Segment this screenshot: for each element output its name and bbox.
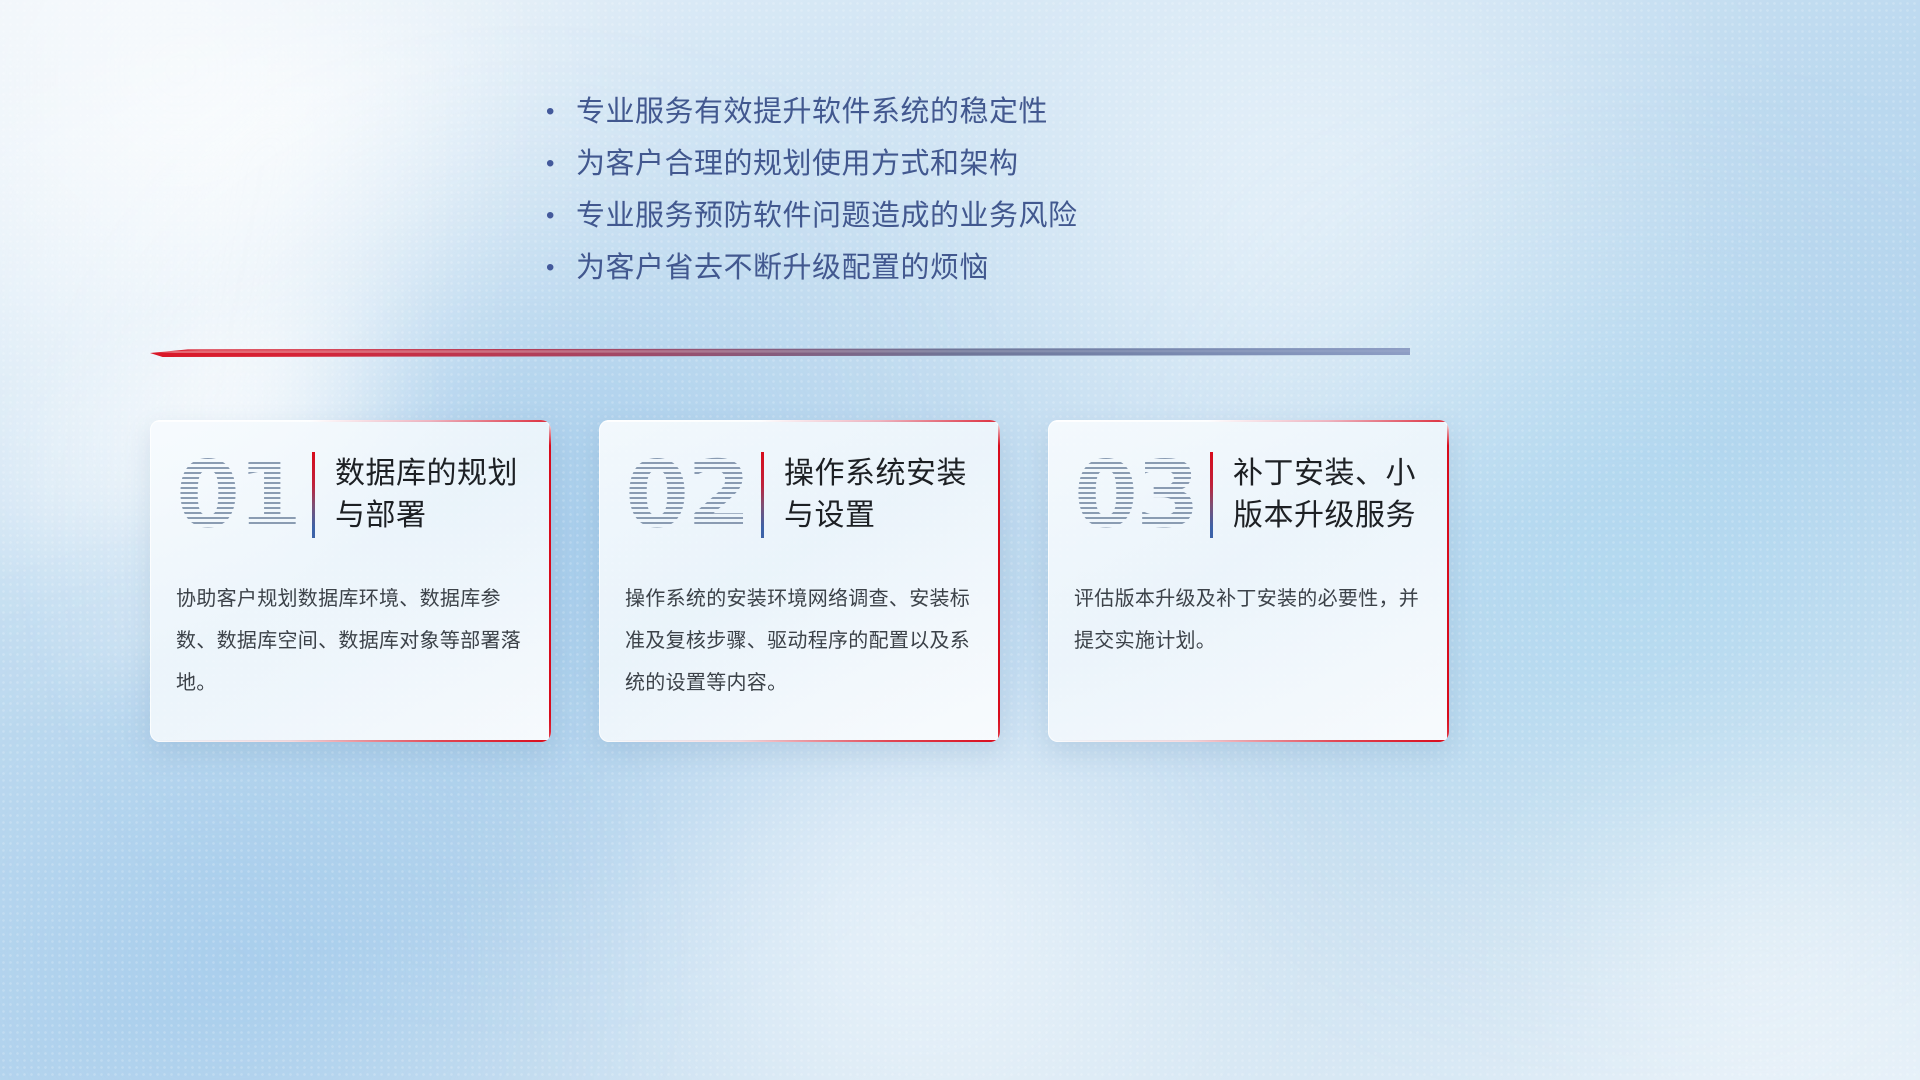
card-number: 01 xyxy=(176,447,308,543)
card-title: 数据库的规划与部署 xyxy=(335,453,529,537)
bullet-marker-icon: • xyxy=(540,92,576,132)
list-item: • 专业服务有效提升软件系统的稳定性 xyxy=(540,92,1260,144)
card-header: 01 数据库的规划与部署 xyxy=(150,420,551,570)
card-bottom-accent xyxy=(150,740,551,742)
card-bottom-accent xyxy=(1048,740,1449,742)
card-header: 03 补丁安装、小版本升级服务 xyxy=(1048,420,1449,570)
service-card[interactable]: 02 操作系统安装与设置 操作系统的安装环境网络调查、安装标准及复核步骤、驱动程… xyxy=(599,420,1000,742)
card-divider-bar xyxy=(761,452,764,538)
bullet-marker-icon: • xyxy=(540,248,576,288)
list-item: • 为客户省去不断升级配置的烦恼 xyxy=(540,248,1260,300)
card-description: 操作系统的安装环境网络调查、安装标准及复核步骤、驱动程序的配置以及系统的设置等内… xyxy=(599,570,1000,704)
list-item: • 专业服务预防软件问题造成的业务风险 xyxy=(540,196,1260,248)
section-divider xyxy=(150,340,1410,368)
bullet-text: 专业服务预防软件问题造成的业务风险 xyxy=(576,196,1078,236)
card-number: 02 xyxy=(625,447,757,543)
bullet-text: 为客户省去不断升级配置的烦恼 xyxy=(576,248,989,288)
card-divider-bar xyxy=(1210,452,1213,538)
card-number: 03 xyxy=(1074,447,1206,543)
bullet-text: 为客户合理的规划使用方式和架构 xyxy=(576,144,1019,184)
card-title: 补丁安装、小版本升级服务 xyxy=(1233,453,1427,537)
bullet-text: 专业服务有效提升软件系统的稳定性 xyxy=(576,92,1048,132)
bullet-marker-icon: • xyxy=(540,144,576,184)
card-divider-bar xyxy=(312,452,315,538)
card-description: 协助客户规划数据库环境、数据库参数、数据库空间、数据库对象等部署落地。 xyxy=(150,570,551,704)
service-card[interactable]: 03 补丁安装、小版本升级服务 评估版本升级及补丁安装的必要性，并提交实施计划。 xyxy=(1048,420,1449,742)
bullet-marker-icon: • xyxy=(540,196,576,236)
service-card[interactable]: 01 数据库的规划与部署 协助客户规划数据库环境、数据库参数、数据库空间、数据库… xyxy=(150,420,551,742)
card-bottom-accent xyxy=(599,740,1000,742)
card-description: 评估版本升级及补丁安装的必要性，并提交实施计划。 xyxy=(1048,570,1449,662)
card-header: 02 操作系统安装与设置 xyxy=(599,420,1000,570)
benefits-bullet-list: • 专业服务有效提升软件系统的稳定性 • 为客户合理的规划使用方式和架构 • 专… xyxy=(540,92,1260,300)
service-card-list: 01 数据库的规划与部署 协助客户规划数据库环境、数据库参数、数据库空间、数据库… xyxy=(150,420,1450,745)
list-item: • 为客户合理的规划使用方式和架构 xyxy=(540,144,1260,196)
card-title: 操作系统安装与设置 xyxy=(784,453,978,537)
